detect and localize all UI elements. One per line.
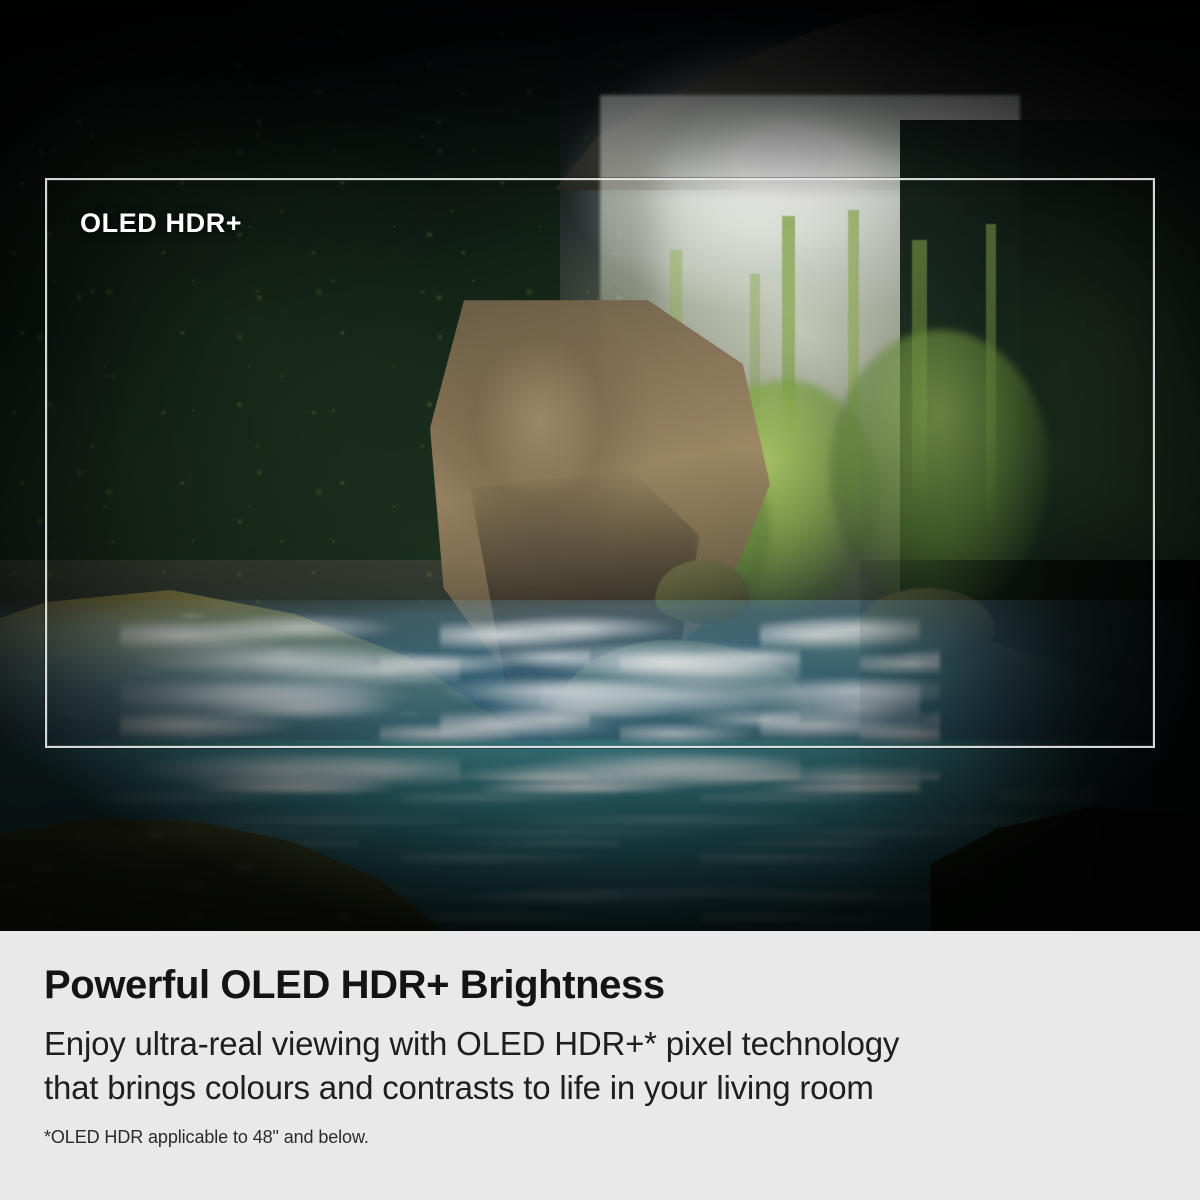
page-title: Powerful OLED HDR+ Brightness [44, 963, 1164, 1008]
body-copy-line-1: Enjoy ultra-real viewing with OLED HDR+*… [44, 1022, 1164, 1066]
hero-image: OLED HDR+ [0, 0, 1200, 931]
cave-river-scene [0, 0, 1200, 931]
oled-brightness-promo-card: OLED HDR+ Powerful OLED HDR+ Brightness … [0, 0, 1200, 1200]
caption-panel: Powerful OLED HDR+ Brightness Enjoy ultr… [0, 931, 1200, 1200]
caption-content: Powerful OLED HDR+ Brightness Enjoy ultr… [44, 931, 1164, 1148]
image-vignette [0, 0, 1200, 931]
body-copy: Enjoy ultra-real viewing with OLED HDR+*… [44, 1022, 1164, 1110]
oled-hdr-plus-badge: OLED HDR+ [80, 208, 242, 239]
body-copy-line-2: that brings colours and contrasts to lif… [44, 1066, 1164, 1110]
footnote-disclaimer: *OLED HDR applicable to 48" and below. [44, 1127, 1164, 1148]
